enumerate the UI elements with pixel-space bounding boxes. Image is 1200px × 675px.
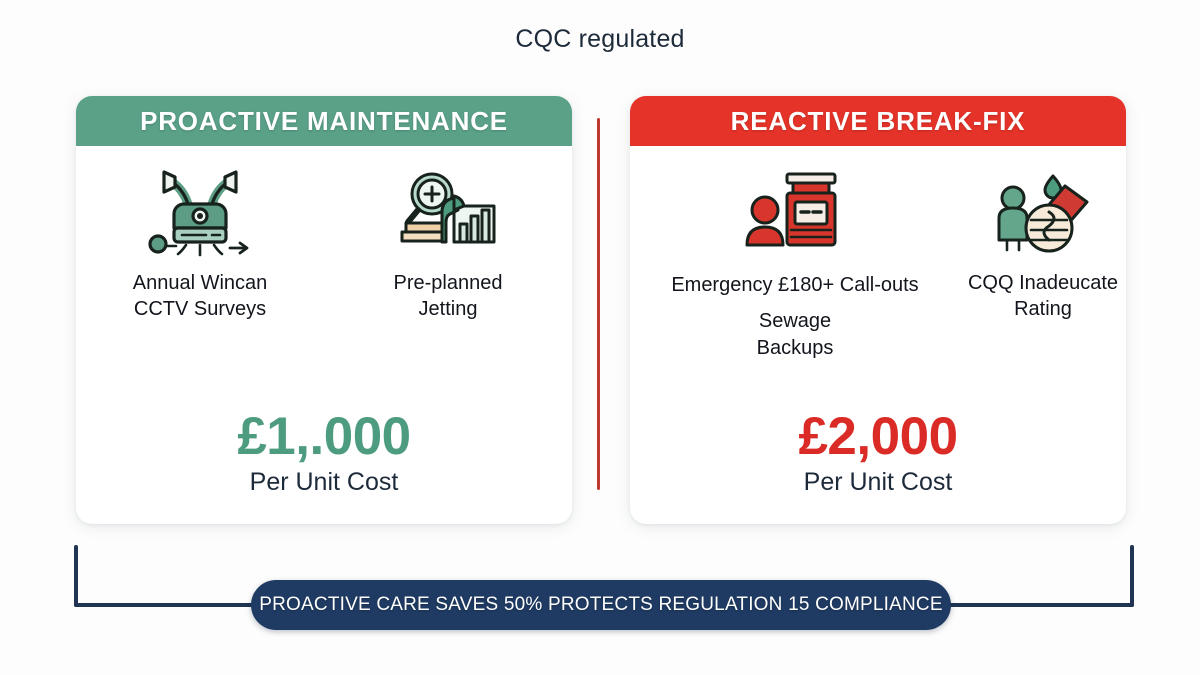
card-header-label: REACTIVE BREAK-FIX — [731, 106, 1026, 137]
bracket-arm-right — [1130, 545, 1134, 607]
card-header-label: PROACTIVE MAINTENANCE — [140, 106, 508, 137]
icon-columns-proactive: Annual Wincan CCTV Surveys — [76, 164, 572, 323]
price-block-reactive: £2,000 Per Unit Cost — [630, 410, 1126, 497]
inadequate-rating-badge-icon — [984, 164, 1102, 260]
icon-label-sewage: Sewage Backups — [757, 308, 834, 361]
infographic-canvas: CQC regulated PROACTIVE MAINTENANCE — [0, 0, 1200, 675]
price-value-proactive: £1,.000 — [76, 410, 572, 464]
price-block-proactive: £1,.000 Per Unit Cost — [76, 410, 572, 497]
icon-label-jetting: Pre-planned Jetting — [394, 270, 503, 323]
icon-caption-emergency: Emergency £180+ Call-outs — [630, 272, 960, 298]
icon-columns-reactive: Emergency £180+ Call-outs Sewage Backups — [630, 164, 1126, 361]
page-title: CQC regulated — [0, 25, 1200, 54]
card-reactive-break-fix: REACTIVE BREAK-FIX — [630, 96, 1126, 524]
icon-column-rating: CQQ Inadeucate Rating — [960, 164, 1126, 361]
icon-column-emergency: Emergency £180+ Call-outs Sewage Backups — [630, 164, 960, 361]
summary-banner: PROACTIVE CARE SAVES 50% PROTECTS REGULA… — [251, 580, 951, 630]
card-header-reactive: REACTIVE BREAK-FIX — [630, 96, 1126, 146]
summary-banner-label: PROACTIVE CARE SAVES 50% PROTECTS REGULA… — [259, 594, 942, 616]
magnifier-books-chart-icon — [389, 164, 507, 260]
price-caption-reactive: Per Unit Cost — [630, 468, 1126, 497]
icon-column-jetting: Pre-planned Jetting — [324, 164, 572, 323]
emergency-callout-person-icon — [736, 164, 854, 260]
price-caption-proactive: Per Unit Cost — [76, 468, 572, 497]
card-body-proactive: Annual Wincan CCTV Surveys — [76, 146, 572, 524]
icon-label-cctv: Annual Wincan CCTV Surveys — [133, 270, 268, 323]
icon-column-cctv: Annual Wincan CCTV Surveys — [76, 164, 324, 323]
card-header-proactive: PROACTIVE MAINTENANCE — [76, 96, 572, 146]
card-body-reactive: Emergency £180+ Call-outs Sewage Backups — [630, 146, 1126, 524]
icon-label-rating: CQQ Inadeucate Rating — [968, 270, 1118, 323]
vertical-divider — [597, 118, 600, 490]
bracket-arm-left — [74, 545, 78, 607]
cctv-survey-robot-icon — [141, 164, 259, 260]
card-proactive-maintenance: PROACTIVE MAINTENANCE — [76, 96, 572, 524]
price-value-reactive: £2,000 — [630, 410, 1126, 464]
